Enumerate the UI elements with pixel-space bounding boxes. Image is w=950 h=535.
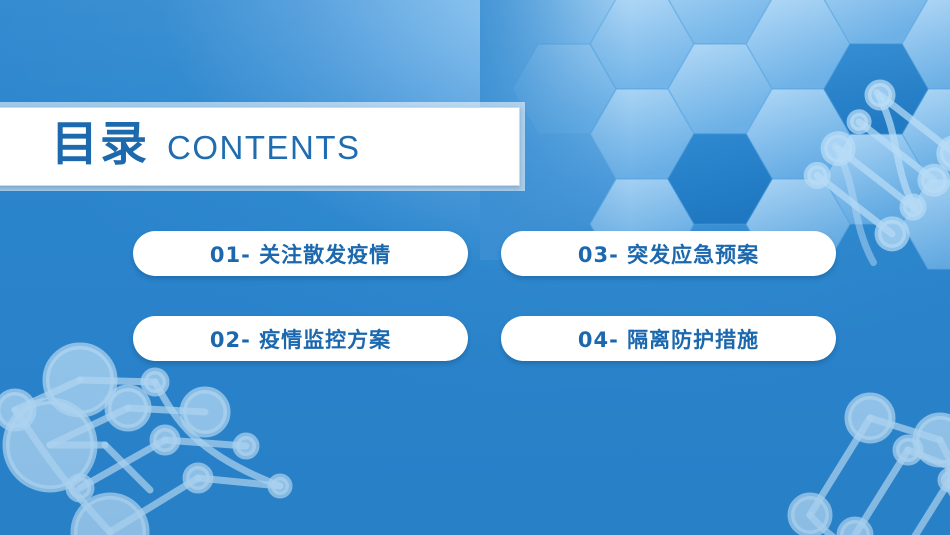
contents-item-03[interactable]: 03- 突发应急预案 <box>501 231 836 276</box>
contents-item-label: 01- 关注散发疫情 <box>210 239 391 269</box>
contents-item-04[interactable]: 04- 隔离防护措施 <box>501 316 836 361</box>
page-title-en: CONTENTS <box>167 131 361 164</box>
contents-item-label: 03- 突发应急预案 <box>578 239 759 269</box>
page-title-cn: 目录 <box>51 121 149 168</box>
contents-list: 01- 关注散发疫情 02- 疫情监控方案 03- 突发应急预案 04- 隔离防… <box>133 231 836 361</box>
contents-item-label: 02- 疫情监控方案 <box>210 324 391 354</box>
contents-item-01[interactable]: 01- 关注散发疫情 <box>133 231 468 276</box>
page-title: 目录 CONTENTS <box>0 107 520 186</box>
contents-item-02[interactable]: 02- 疫情监控方案 <box>133 316 468 361</box>
contents-item-label: 04- 隔离防护措施 <box>578 324 759 354</box>
presentation-slide: 目录 CONTENTS 01- 关注散发疫情 02- 疫情监控方案 03- 突发… <box>0 0 950 535</box>
